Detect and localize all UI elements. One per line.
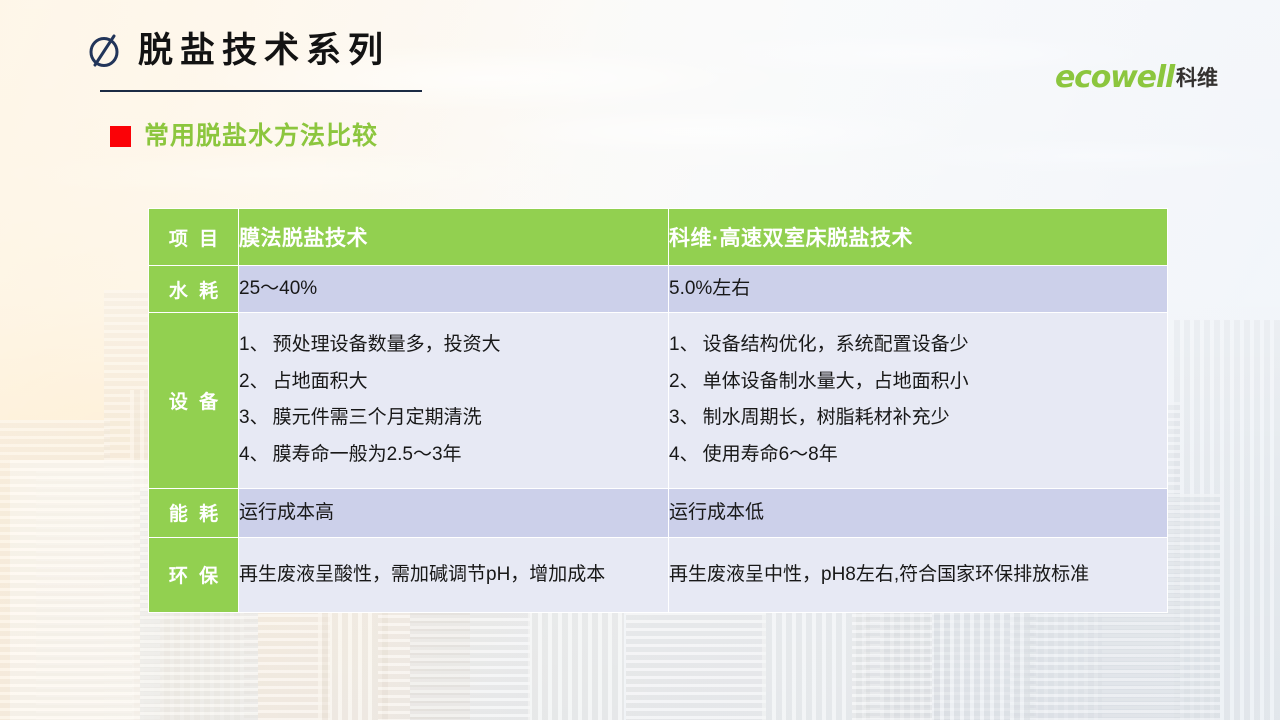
list-item-number: 4、: [669, 443, 699, 468]
slashed-circle-icon: [88, 30, 122, 70]
list-item-text: 膜元件需三个月定期清洗: [273, 406, 482, 431]
list-item-number: 1、: [239, 333, 269, 358]
list-item-number: 2、: [669, 370, 699, 395]
row-label-equipment: 设 备: [149, 313, 239, 489]
list-item-number: 1、: [669, 333, 699, 358]
cell-environment-ecowell: 再生废液呈中性，pH8左右,符合国家环保排放标准: [669, 537, 1168, 612]
slide-root: 脱盐技术系列 ecowell 科维 常用脱盐水方法比较 项 目 膜法脱盐技术 科…: [0, 0, 1280, 720]
list-item-text: 设备结构优化，系统配置设备少: [703, 333, 969, 358]
page-title: 脱盐技术系列: [138, 33, 390, 68]
list-item: 1、预处理设备数量多，投资大: [239, 327, 668, 364]
title-underline: [100, 90, 422, 92]
logo-wordmark: ecowell: [1055, 63, 1174, 93]
section-subtitle-text: 常用脱盐水方法比较: [144, 124, 378, 149]
section-subtitle: 常用脱盐水方法比较: [110, 124, 378, 149]
list-item-text: 预处理设备数量多，投资大: [273, 333, 501, 358]
table-row-equipment: 设 备 1、预处理设备数量多，投资大 2、占地面积大 3、膜元件需三个月定期清洗…: [149, 313, 1168, 489]
list-item-number: 4、: [239, 443, 269, 468]
list-item: 4、使用寿命6～8年: [669, 437, 1167, 474]
row-label-water: 水 耗: [149, 266, 239, 313]
list-item-text: 占地面积大: [273, 370, 368, 395]
list-item: 2、单体设备制水量大，占地面积小: [669, 364, 1167, 401]
table-row-water: 水 耗 25～40% 5.0%左右: [149, 266, 1168, 313]
comparison-table: 项 目 膜法脱盐技术 科维·高速双室床脱盐技术 水 耗 25～40% 5.0%左…: [148, 208, 1168, 613]
logo-chinese-name: 科维: [1176, 68, 1218, 89]
header-cell-ecowell: 科维·高速双室床脱盐技术: [669, 209, 1168, 266]
table-row-environment: 环 保 再生废液呈酸性，需加碱调节pH，增加成本 再生废液呈中性，pH8左右,符…: [149, 537, 1168, 612]
cell-energy-membrane: 运行成本高: [239, 488, 669, 537]
row-label-energy: 能 耗: [149, 488, 239, 537]
list-item-number: 2、: [239, 370, 269, 395]
page-header: 脱盐技术系列: [88, 30, 390, 70]
cell-environment-membrane: 再生废液呈酸性，需加碱调节pH，增加成本: [239, 537, 669, 612]
equipment-ecowell-list: 1、设备结构优化，系统配置设备少 2、单体设备制水量大，占地面积小 3、 制水周…: [669, 327, 1167, 474]
cell-water-ecowell: 5.0%左右: [669, 266, 1168, 313]
row-label-environment: 环 保: [149, 537, 239, 612]
list-item-text: 单体设备制水量大，占地面积小: [703, 370, 969, 395]
table-header-row: 项 目 膜法脱盐技术 科维·高速双室床脱盐技术: [149, 209, 1168, 266]
list-item-text: 使用寿命6～8年: [703, 443, 838, 468]
list-item-number: 3、: [669, 406, 699, 431]
header-cell-membrane: 膜法脱盐技术: [239, 209, 669, 266]
list-item: 1、设备结构优化，系统配置设备少: [669, 327, 1167, 364]
cell-water-membrane: 25～40%: [239, 266, 669, 313]
list-item-number: 3、: [239, 406, 269, 431]
list-item: 4、膜寿命一般为2.5～3年: [239, 437, 668, 474]
list-item: 2、占地面积大: [239, 364, 668, 401]
list-item-text: 制水周期长，树脂耗材补充少: [703, 406, 950, 431]
header-cell-item: 项 目: [149, 209, 239, 266]
list-item: 3、 制水周期长，树脂耗材补充少: [669, 400, 1167, 437]
cell-equipment-ecowell: 1、设备结构优化，系统配置设备少 2、单体设备制水量大，占地面积小 3、 制水周…: [669, 313, 1168, 489]
equipment-membrane-list: 1、预处理设备数量多，投资大 2、占地面积大 3、膜元件需三个月定期清洗 4、膜…: [239, 327, 668, 474]
list-item-text: 膜寿命一般为2.5～3年: [273, 443, 462, 468]
list-item: 3、膜元件需三个月定期清洗: [239, 400, 668, 437]
cell-equipment-membrane: 1、预处理设备数量多，投资大 2、占地面积大 3、膜元件需三个月定期清洗 4、膜…: [239, 313, 669, 489]
table-row-energy: 能 耗 运行成本高 运行成本低: [149, 488, 1168, 537]
red-square-bullet-icon: [110, 126, 131, 147]
cell-energy-ecowell: 运行成本低: [669, 488, 1168, 537]
ecowell-logo: ecowell 科维: [1055, 63, 1218, 93]
